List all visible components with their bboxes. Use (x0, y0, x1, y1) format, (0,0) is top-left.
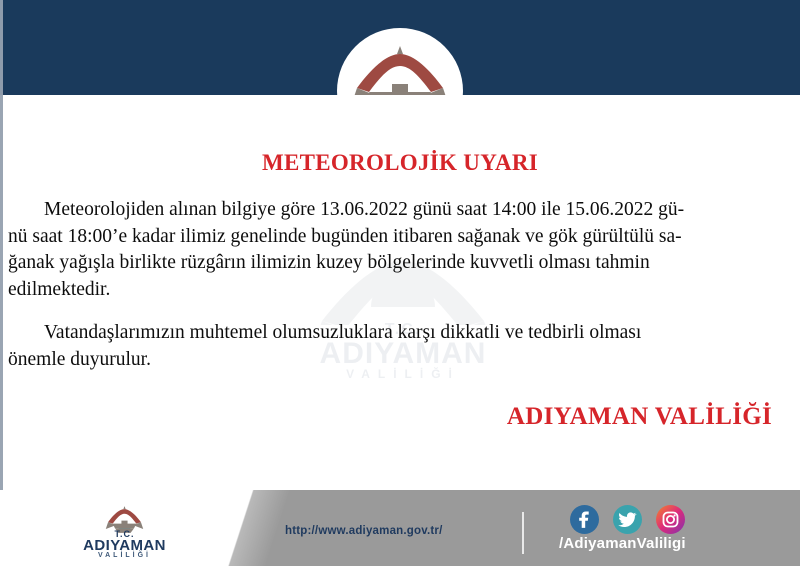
paragraph-1-line-1: Meteorolojiden alınan bilgiye göre 13.06… (8, 197, 792, 224)
paragraph-public-advisory: Vatandaşlarımızın muhtemel olumsuzluklar… (8, 320, 792, 373)
meteorological-warning-document: T.C. ADIYAMAN VALİLİĞİ T.C. ADIYAMAN VAL… (0, 0, 800, 566)
twitter-icon[interactable] (613, 505, 642, 534)
paragraph-2-line-2: önemle duyurulur. (8, 347, 792, 374)
signature-authority: ADIYAMAN VALİLİĞİ (0, 403, 772, 431)
social-icons-row (570, 505, 710, 535)
paragraph-2-line-1: Vatandaşlarımızın muhtemel olumsuzluklar… (8, 320, 792, 347)
instagram-icon[interactable] (656, 505, 685, 534)
paragraph-1-line-2: nü saat 18:00’e kadar ilimiz genelinde b… (8, 224, 792, 251)
paragraph-1-line-3: ğanak yağışla birlikte rüzgârın ilimizin… (8, 250, 792, 277)
social-handle-label: /AdiyamanValiligi (559, 535, 686, 552)
footer-logo-subtitle: VALİLİĞİ (72, 552, 177, 559)
footer-vertical-divider (522, 512, 524, 554)
paragraph-weather-forecast: Meteorolojiden alınan bilgiye göre 13.06… (8, 197, 792, 303)
page-title: METEOROLOJİK UYARI (0, 150, 800, 176)
facebook-icon[interactable] (570, 505, 599, 534)
paragraph-1-line-4: edilmektedir. (8, 277, 792, 304)
page-left-edge-top (0, 0, 3, 95)
website-url-link[interactable]: http://www.adiyaman.gov.tr/ (285, 525, 442, 537)
footer-logo-name: ADIYAMAN (62, 538, 187, 553)
